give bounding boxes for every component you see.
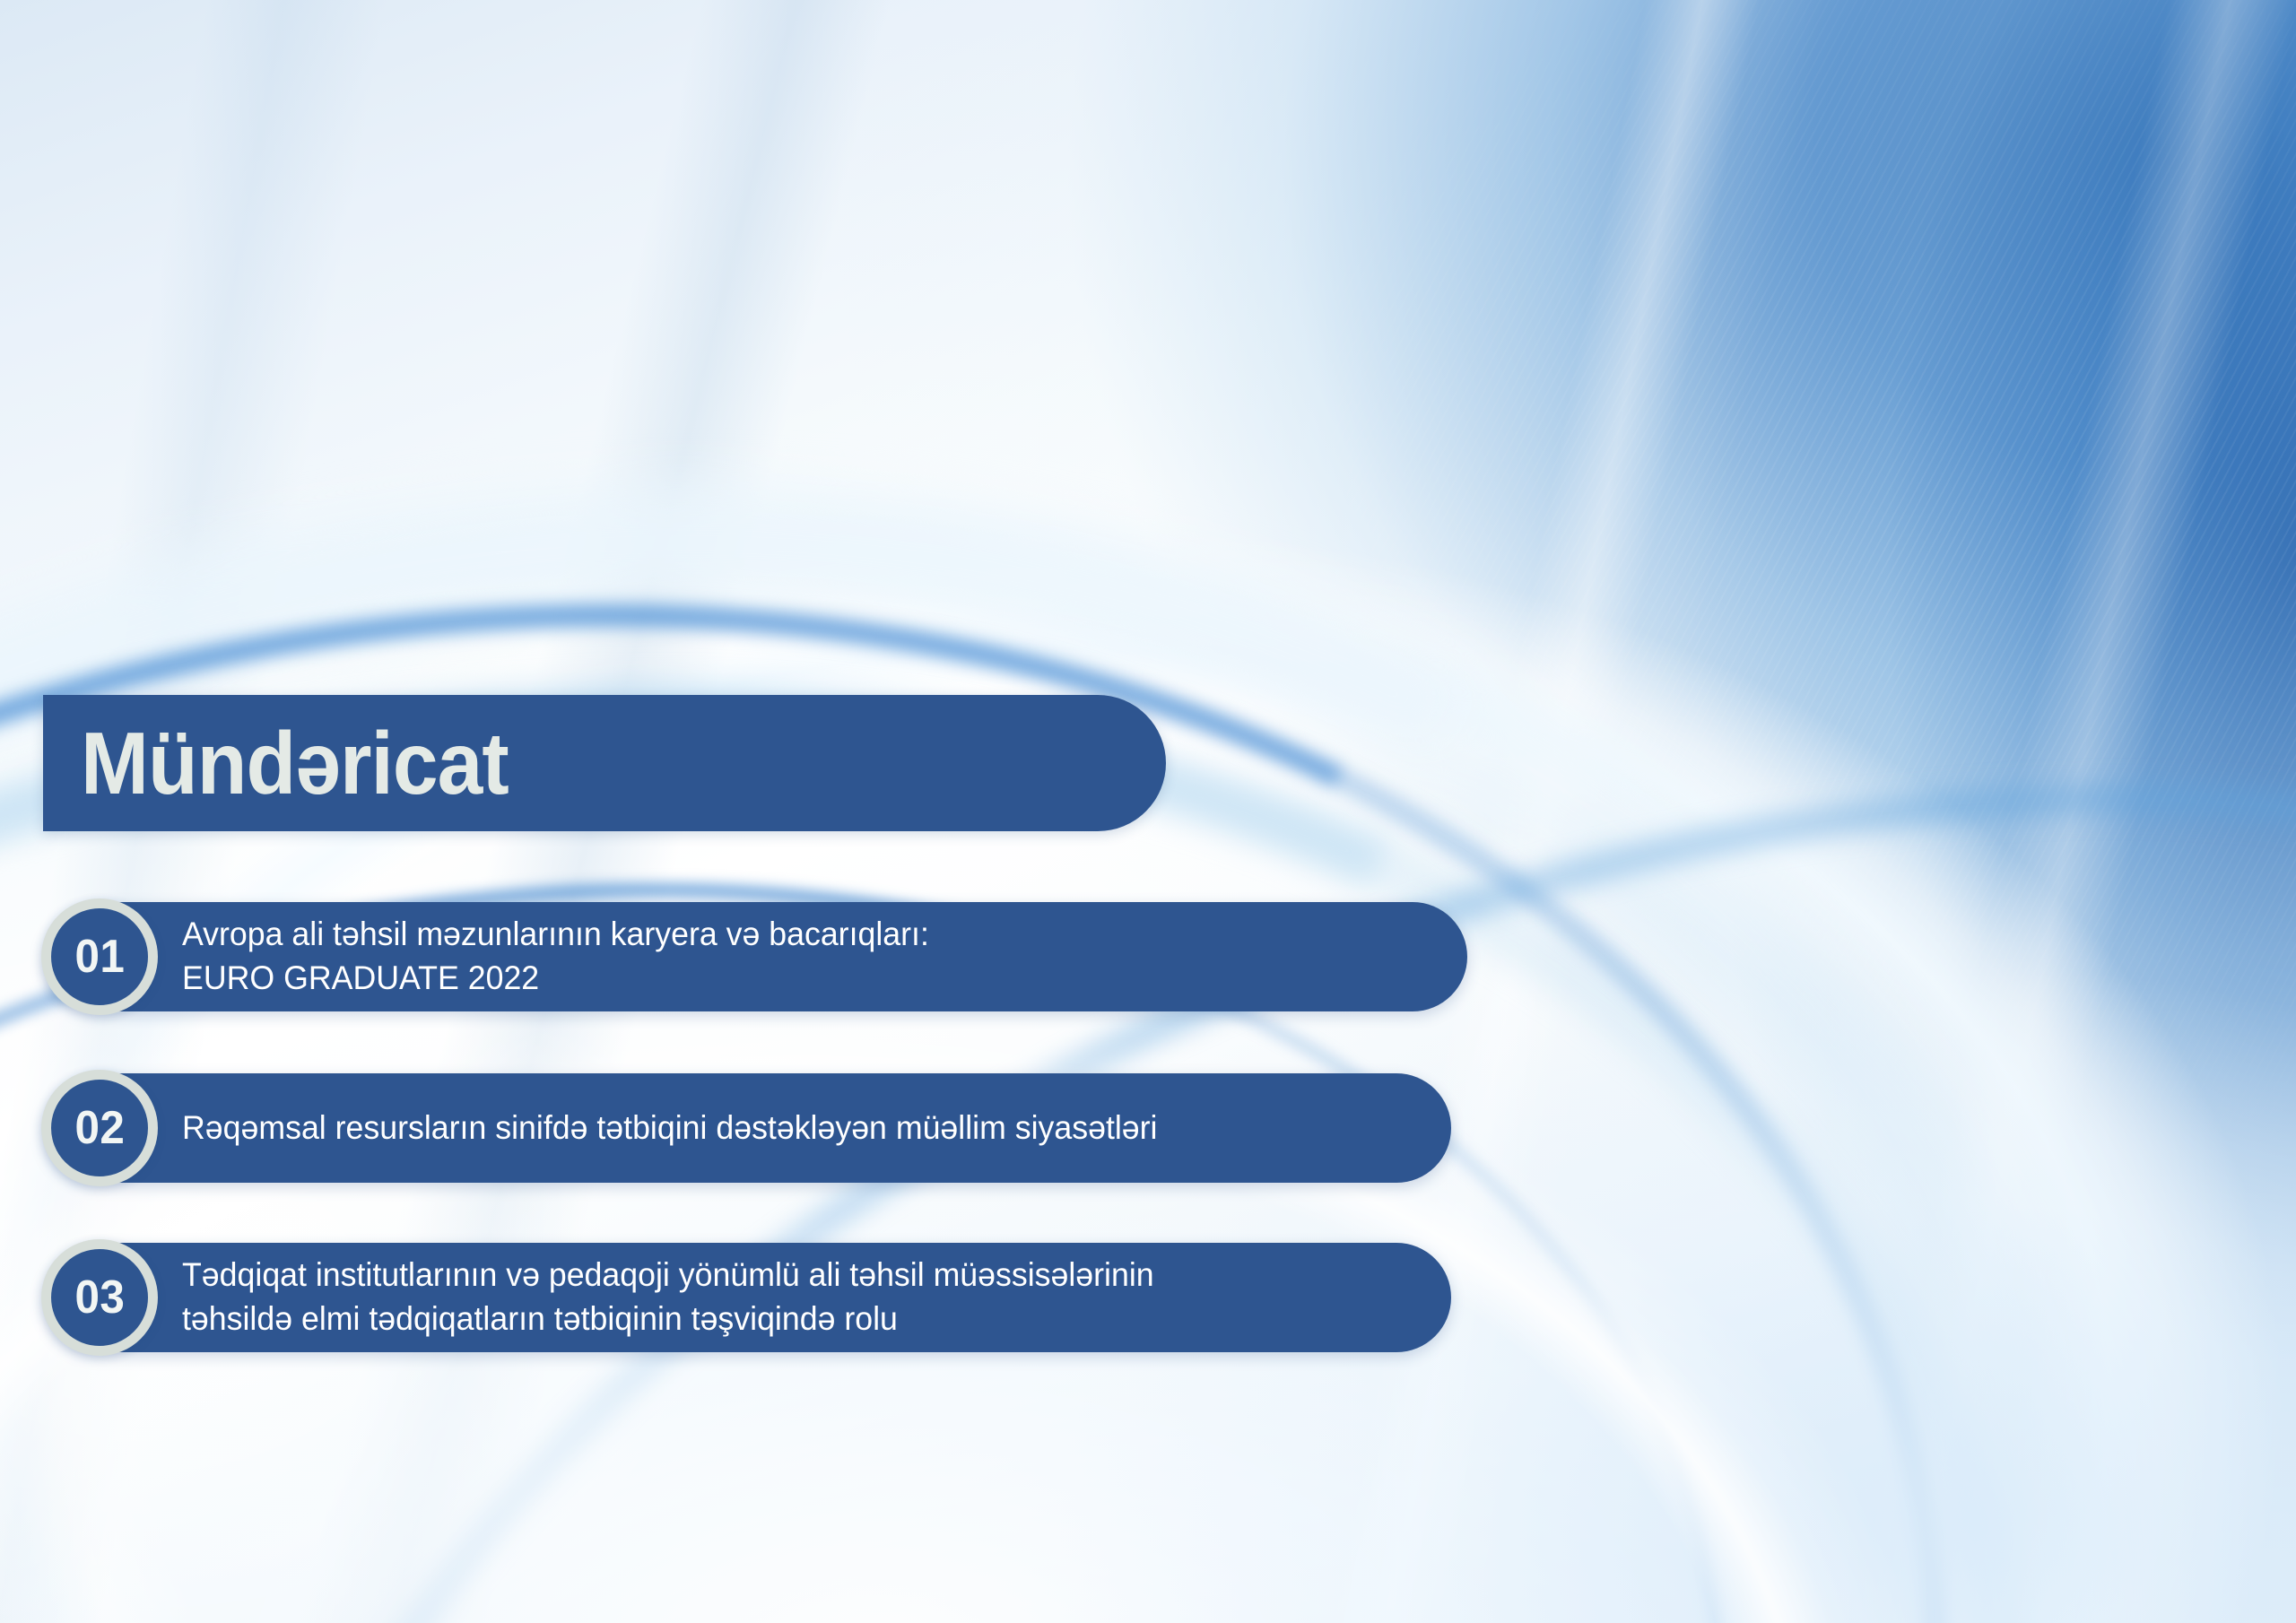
toc-item-number-badge: 02 <box>41 1070 158 1186</box>
slide-title-banner: Mündəricat <box>43 695 1166 831</box>
toc-item-number: 03 <box>74 1274 125 1321</box>
toc-item-pill[interactable]: Tədqiqat institutlarının və pedaqoji yön… <box>43 1243 1451 1352</box>
toc-item-number: 02 <box>74 1105 125 1151</box>
page-title: Mündəricat <box>81 719 509 807</box>
toc-item-number-badge: 01 <box>41 898 158 1015</box>
toc-item-label: Tədqiqat institutlarının və pedaqoji yön… <box>182 1254 1154 1341</box>
toc-item-pill[interactable]: Rəqəmsal resursların sinifdə tətbiqini d… <box>43 1073 1451 1183</box>
toc-item-pill[interactable]: Avropa ali təhsil məzunlarının karyera v… <box>43 902 1467 1011</box>
toc-item-label: Rəqəmsal resursların sinifdə tətbiqini d… <box>182 1107 1157 1150</box>
toc-item-number: 01 <box>74 933 125 980</box>
toc-item-number-badge: 03 <box>41 1239 158 1356</box>
slide-content: Mündəricat Avropa ali təhsil məzunlarını… <box>0 0 2296 1623</box>
toc-item-label: Avropa ali təhsil məzunlarının karyera v… <box>182 913 929 1001</box>
presentation-slide: Mündəricat Avropa ali təhsil məzunlarını… <box>0 0 2296 1623</box>
